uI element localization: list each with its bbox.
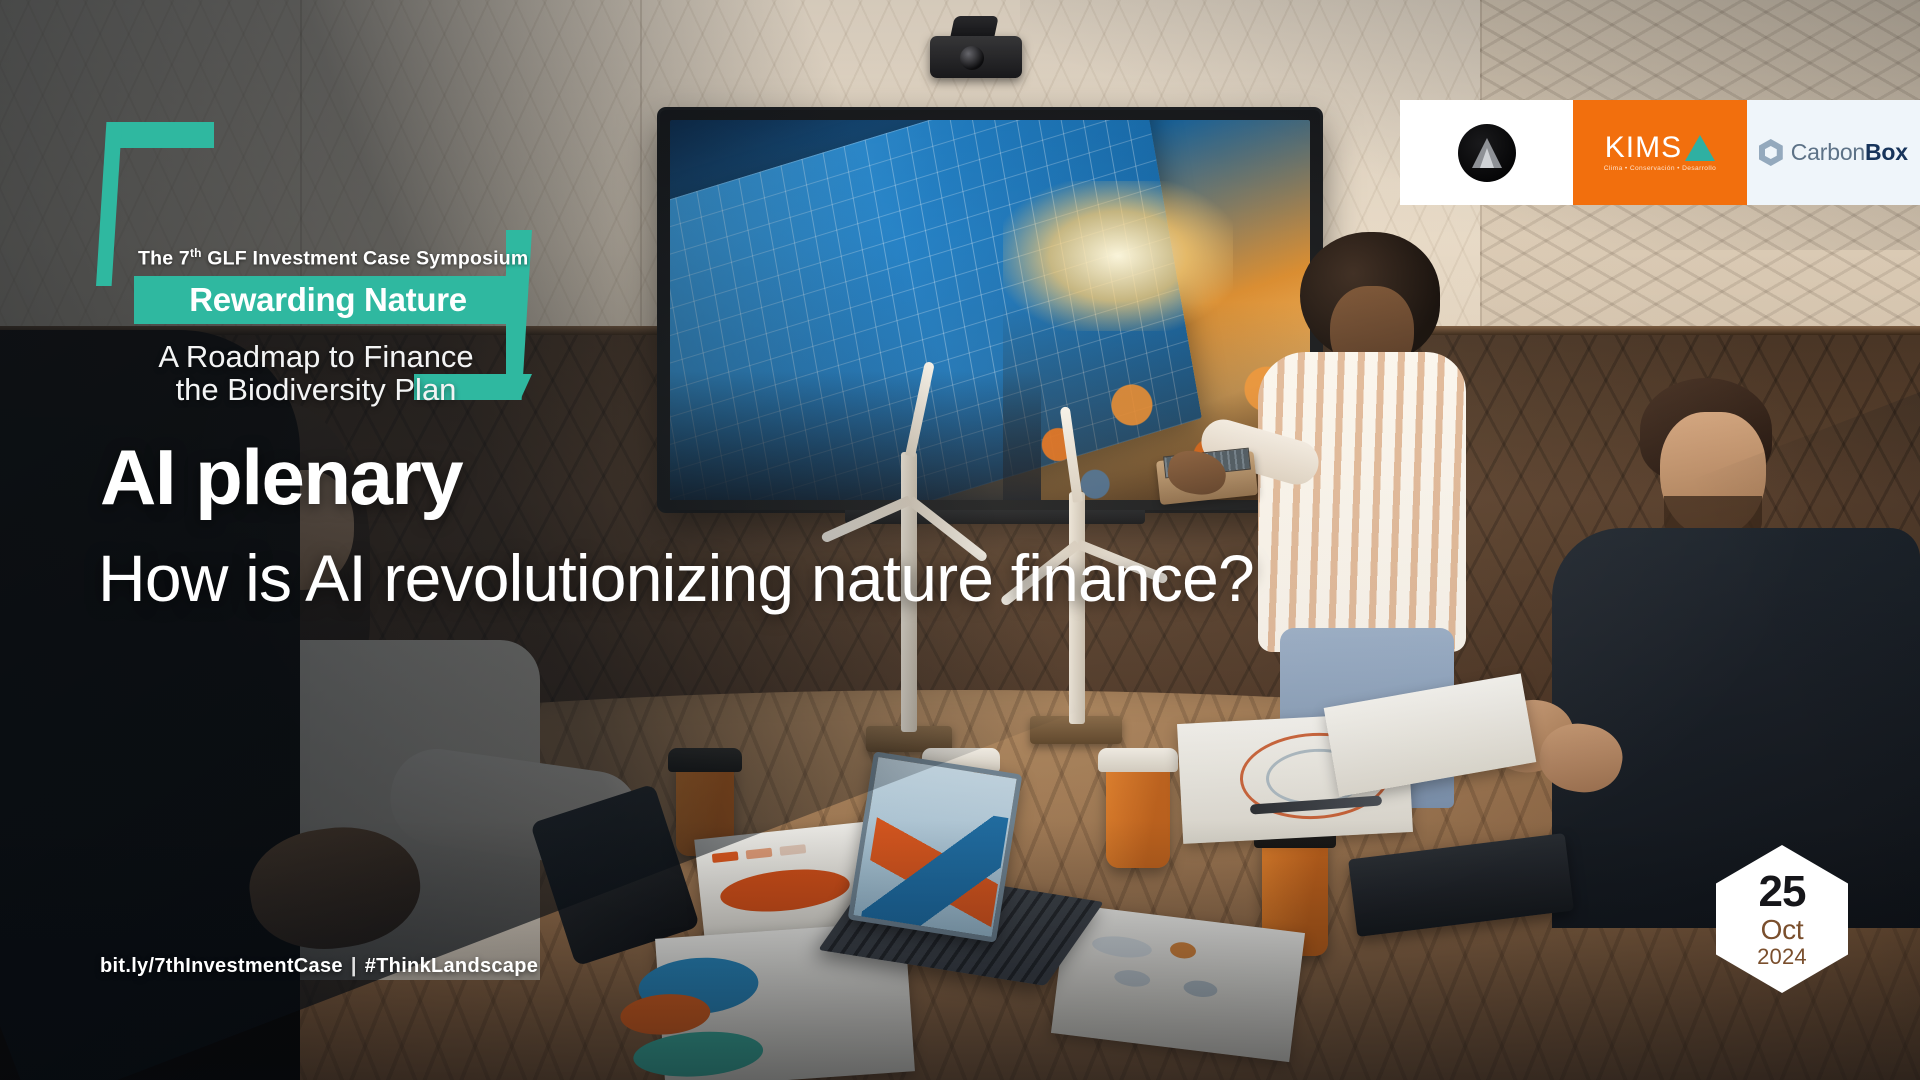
carbonbox-label-bold: Box xyxy=(1865,139,1908,165)
kicker-ordinal: th xyxy=(190,246,202,260)
apex-mark-icon xyxy=(1458,124,1516,182)
session-title: AI plenary xyxy=(100,432,462,523)
coffee-cup xyxy=(1106,762,1170,868)
tagline-line-2: the Biodiversity Plan xyxy=(106,373,526,406)
coffee-lid xyxy=(1098,748,1178,772)
laptop-chart xyxy=(861,798,1008,937)
event-kicker: The 7th GLF Investment Case Symposium xyxy=(138,246,568,271)
carbonbox-label-light: Carbon xyxy=(1791,139,1865,165)
partner-logo-apex[interactable] xyxy=(1400,100,1573,205)
kims-lockup: KIMS Clima • Conservación • Desarrollo xyxy=(1604,133,1716,173)
kims-triangle-icon xyxy=(1685,135,1715,161)
tagline-line-1: A Roadmap to Finance xyxy=(106,340,526,373)
footer-link[interactable]: bit.ly/7thInvestmentCase xyxy=(100,955,343,977)
bracket-top-left-icon xyxy=(110,122,214,148)
kims-label: KIMS xyxy=(1605,133,1682,163)
date-day: 25 xyxy=(1759,870,1806,914)
footer-separator: | xyxy=(343,955,365,977)
kicker-prefix: The 7 xyxy=(138,248,190,270)
partner-logo-carbonbox[interactable]: CarbonBox xyxy=(1747,100,1920,205)
date-month: Oct xyxy=(1761,916,1804,944)
webcam-lens-icon xyxy=(960,46,984,70)
presenter-shirt xyxy=(1258,352,1466,652)
carbonbox-wordmark: CarbonBox xyxy=(1791,139,1908,166)
event-theme: Rewarding Nature xyxy=(134,276,522,324)
kims-tagline: Clima • Conservación • Desarrollo xyxy=(1604,166,1716,173)
partner-logo-kims[interactable]: KIMS Clima • Conservación • Desarrollo xyxy=(1573,100,1746,205)
screen-shadow xyxy=(670,371,1041,500)
coffee-lid xyxy=(668,748,742,772)
arrowhead-icon xyxy=(1472,138,1502,168)
carbonbox-lockup: CarbonBox xyxy=(1759,139,1908,166)
kicker-suffix: GLF Investment Case Symposium xyxy=(202,248,529,270)
laptop-screen xyxy=(848,751,1023,942)
date-year: 2024 xyxy=(1757,946,1807,968)
event-tagline: A Roadmap to Finance the Biodiversity Pl… xyxy=(106,340,526,406)
footer-hashtag[interactable]: #ThinkLandscape xyxy=(365,955,538,977)
footer: bit.ly/7thInvestmentCase|#ThinkLandscape xyxy=(100,955,538,978)
partner-logo-strip: KIMS Clima • Conservación • Desarrollo C… xyxy=(1400,100,1920,205)
kims-wordmark: KIMS xyxy=(1605,133,1715,163)
attendee-right-body xyxy=(1552,528,1920,928)
event-banner: The 7th GLF Investment Case Symposium Re… xyxy=(0,0,1920,1080)
session-question: How is AI revolutionizing nature finance… xyxy=(98,540,1254,616)
hexagon-icon xyxy=(1759,139,1783,166)
